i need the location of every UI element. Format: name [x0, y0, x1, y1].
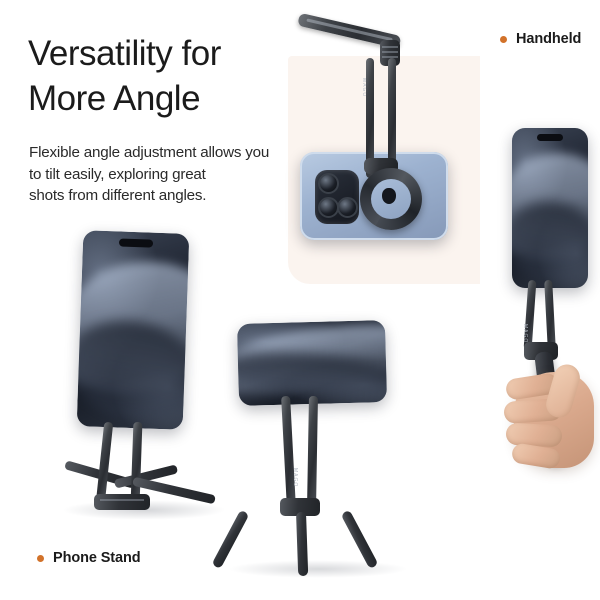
phone-portrait-stand [77, 230, 190, 430]
product-shot-tripod-landscape: MAGO [232, 318, 404, 566]
body-copy-line-1: Flexible angle adjustment allows you [29, 142, 311, 164]
stand-hinge-hub [94, 494, 150, 510]
tripod-post-left [281, 396, 296, 508]
callout-handheld-label: Handheld [516, 31, 581, 47]
hinge-rib [382, 46, 398, 48]
headline-line-2: More Angle [28, 77, 308, 122]
page-title: Versatility for More Angle [28, 32, 308, 122]
dynamic-island [537, 134, 563, 141]
hinge-rib [382, 51, 398, 53]
brand-mark: MAGO [522, 324, 528, 343]
phone-screen [77, 230, 190, 430]
magsafe-ring-clamp [360, 168, 422, 230]
dynamic-island [119, 238, 153, 247]
wallpaper-swirl [512, 194, 588, 288]
product-shot-phone-stand [58, 232, 234, 532]
product-shot-handheld-magsafe-arm: MAGO [288, 18, 488, 284]
tripod-leg [296, 512, 308, 576]
hub-rib [100, 499, 144, 501]
camera-lens-icon [318, 173, 339, 194]
bullet-dot-icon [500, 36, 507, 43]
camera-lens-icon [337, 197, 358, 218]
phone-portrait-grip [512, 128, 588, 288]
product-shot-hand-grip: MAGO [494, 128, 600, 478]
phone-screen [512, 128, 588, 288]
callout-handheld: Handheld [500, 31, 581, 47]
body-copy-line-3: shots from different angles. [29, 185, 311, 207]
stand-leg-right [131, 422, 143, 504]
grip-post-right [544, 280, 556, 350]
callout-phone-stand: Phone Stand [37, 550, 141, 566]
camera-lens-icon [318, 197, 339, 218]
hand-finger [505, 423, 562, 448]
callout-phone-stand-label: Phone Stand [53, 550, 141, 566]
stand-leg-left [96, 422, 114, 504]
body-copy-line-2: to tilt easily, exploring great [29, 164, 311, 186]
product-banner: Versatility for More Angle Flexible angl… [0, 0, 600, 600]
apple-logo-icon [382, 188, 396, 204]
body-copy: Flexible angle adjustment allows you to … [29, 142, 311, 207]
phone-landscape-tripod [237, 320, 387, 406]
phone-screen [237, 320, 387, 406]
headline-line-1: Versatility for [28, 34, 221, 73]
arm-groove [306, 18, 392, 41]
drop-shadow [228, 560, 408, 578]
brand-mark: MAGO [292, 468, 298, 487]
camera-module [315, 170, 359, 224]
bullet-dot-icon [37, 555, 44, 562]
tripod-post-right [307, 396, 318, 508]
